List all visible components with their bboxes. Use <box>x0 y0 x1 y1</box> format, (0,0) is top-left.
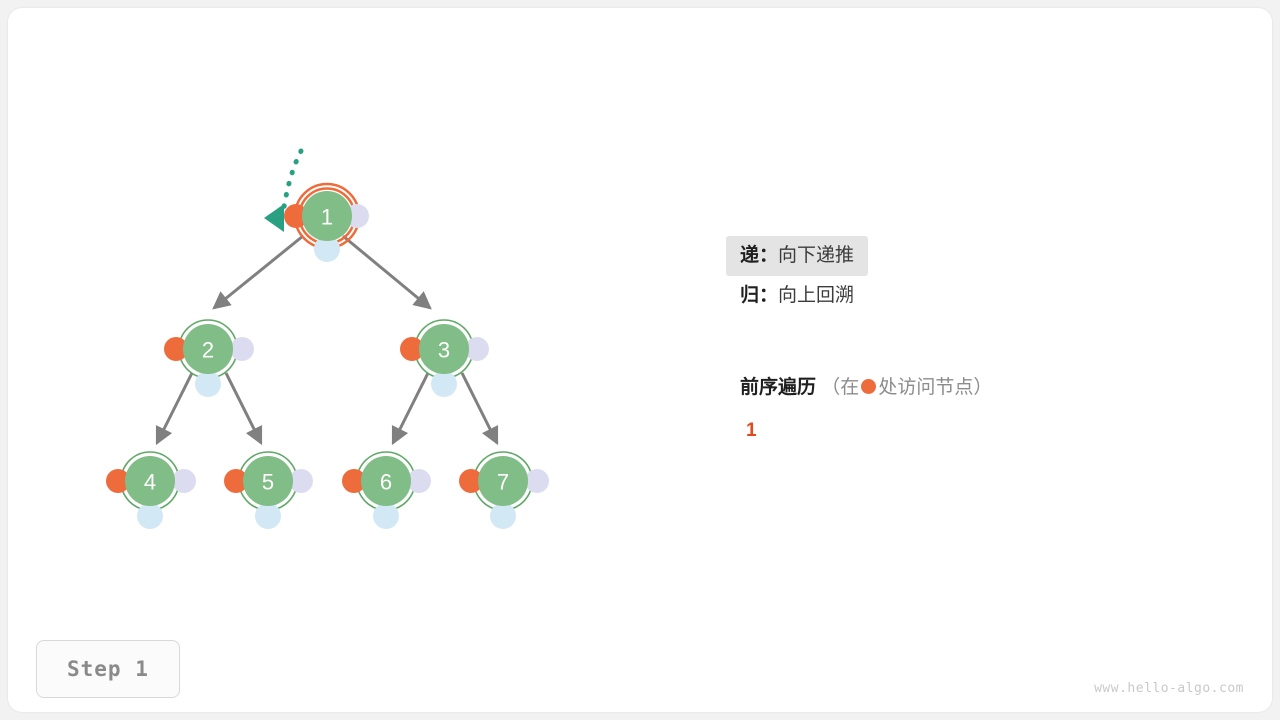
node-7-label: 7 <box>497 470 509 495</box>
traversal-order-title: 前序遍历 （在处访问节点） <box>740 372 1240 399</box>
legend-backtrack-key: 归： <box>740 285 778 306</box>
legend-recurse-value: 向下递推 <box>778 245 854 266</box>
edge-2-5 <box>226 373 261 443</box>
slide-card: 1 2 3 4 <box>8 8 1272 712</box>
traversal-order-values: 1 <box>740 420 1240 442</box>
legend-backtrack-value: 向上回溯 <box>778 285 854 306</box>
legend-row-recurse-highlight: 递：向下递推 <box>726 236 868 276</box>
node-2-bottom-dot <box>195 371 221 397</box>
edge-3-7 <box>462 373 497 443</box>
recursion-pointer-path <box>284 151 301 207</box>
recursion-pointer-arrow-icon <box>264 204 284 232</box>
edge-2-4 <box>157 373 192 443</box>
legend-recurse-key: 递： <box>740 245 778 266</box>
traversal-order-block: 前序遍历 （在处访问节点） 1 <box>740 372 1240 442</box>
tree-node-5[interactable]: 5 <box>224 452 313 529</box>
edge-1-2 <box>214 236 303 308</box>
node-7-right-dot <box>525 469 549 493</box>
tree-node-6[interactable]: 6 <box>342 452 431 529</box>
node-4-right-dot <box>172 469 196 493</box>
node-3-label: 3 <box>438 338 450 363</box>
node-3-bottom-dot <box>431 371 457 397</box>
traversal-order-paren-open: （在 <box>821 377 859 398</box>
tree-node-1[interactable]: 1 <box>284 184 369 262</box>
edge-1-3 <box>343 236 430 308</box>
tree-node-2[interactable]: 2 <box>164 320 254 397</box>
step-badge: Step 1 <box>36 640 180 698</box>
traversal-order-name: 前序遍历 <box>740 377 816 398</box>
node-2-label: 2 <box>202 338 214 363</box>
recursion-legend: 递：向下递推 归：向上回溯 <box>726 236 1226 316</box>
edge-3-6 <box>393 373 428 443</box>
node-1-label: 1 <box>321 205 333 230</box>
node-6-label: 6 <box>380 470 392 495</box>
node-7-bottom-dot <box>490 503 516 529</box>
visit-dot-icon <box>861 379 876 394</box>
node-4-bottom-dot <box>137 503 163 529</box>
tree-node-4[interactable]: 4 <box>106 452 196 529</box>
watermark: www.hello-algo.com <box>1094 681 1244 696</box>
legend-row-backtrack-inner: 归：向上回溯 <box>726 276 868 316</box>
tree-node-3[interactable]: 3 <box>400 320 489 397</box>
tree-node-7[interactable]: 7 <box>459 452 549 529</box>
node-5-label: 5 <box>262 470 274 495</box>
node-4-label: 4 <box>144 470 156 495</box>
traversal-order-paren-close: 处访问节点） <box>878 377 992 398</box>
binary-tree-diagram: 1 2 3 4 <box>8 8 1272 712</box>
node-5-bottom-dot <box>255 503 281 529</box>
legend-row-recurse: 递：向下递推 <box>726 236 1226 276</box>
node-6-bottom-dot <box>373 503 399 529</box>
legend-row-backtrack: 归：向上回溯 <box>726 276 1226 316</box>
node-2-right-dot <box>230 337 254 361</box>
